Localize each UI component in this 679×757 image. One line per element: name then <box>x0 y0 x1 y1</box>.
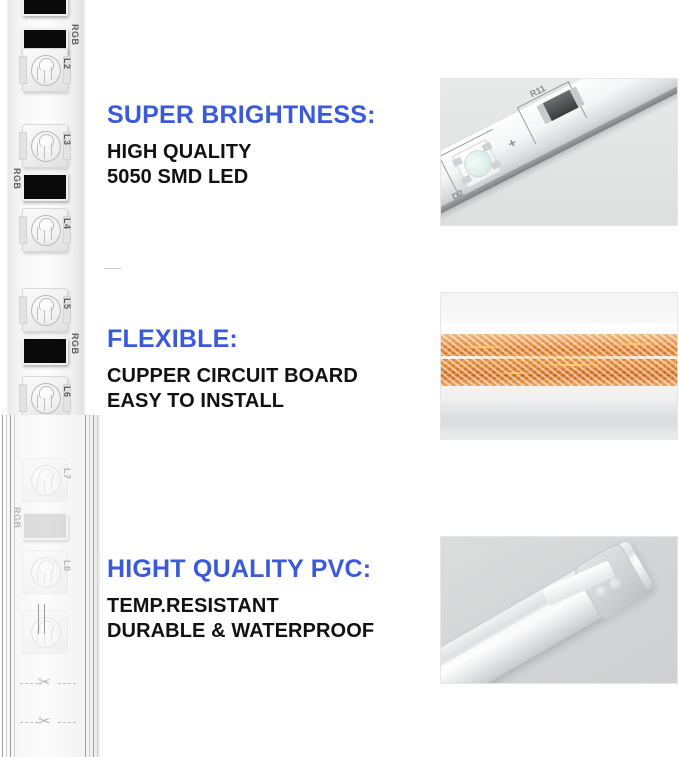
feature-body-line: 5050 SMD LED <box>107 165 437 191</box>
feature-block-hight-quality-pvc: HIGHT QUALITY PVC: TEMP.RESISTANT DURABL… <box>107 556 437 645</box>
led-pad-left <box>19 296 27 324</box>
led-dome-icon <box>31 55 61 86</box>
feature-body-line: DURABLE & WATERPROOF <box>107 619 437 645</box>
led-label: L8 <box>62 560 72 572</box>
led-label: L3 <box>62 134 72 146</box>
feature-body-line: CUPPER CIRCUIT BOARD <box>107 364 437 390</box>
sleeve-edge-line <box>97 415 98 757</box>
smd-led-chip <box>22 458 68 502</box>
led-dome-icon <box>31 557 61 588</box>
sleeve-edge-line <box>85 415 86 757</box>
led-pad-left <box>19 384 27 412</box>
led-strip-illustration: RGB L2 L3 RGB L4 L5 RGB L6 <box>0 0 104 757</box>
tube-highlight <box>441 323 677 333</box>
sleeve-edge-line <box>6 415 7 757</box>
smd-led-chip <box>22 376 68 420</box>
rgb-driver-chip <box>22 173 68 201</box>
feature-heading: FLEXIBLE: <box>107 326 437 354</box>
section-divider <box>104 268 121 269</box>
feature-heading: SUPER BRIGHTNESS: <box>107 102 437 130</box>
scissors-icon: ✂ <box>38 675 51 690</box>
feature-block-super-brightness: SUPER BRIGHTNESS: HIGH QUALITY 5050 SMD … <box>107 102 437 191</box>
led-label: L2 <box>62 58 72 70</box>
photo-led-pcb-closeup: R11 + D2 <box>440 78 678 226</box>
feature-heading: HIGHT QUALITY PVC: <box>107 556 437 584</box>
smd-led-chip <box>22 288 68 332</box>
sleeve-edge-line <box>2 415 3 757</box>
sleeve-edge-line <box>14 415 15 757</box>
smd-led-chip <box>22 48 68 92</box>
sleeve-edge-line <box>93 415 94 757</box>
led-dome-icon <box>31 465 61 496</box>
led-pad-left <box>19 56 27 84</box>
rgb-label: RGB <box>12 168 22 190</box>
sleeve-edge-line <box>10 415 11 757</box>
rgb-driver-chip <box>22 337 68 365</box>
cut-line-dash <box>20 722 38 723</box>
copper-strand <box>455 346 511 348</box>
led-dome-icon <box>31 383 61 414</box>
photo-clear-pvc-sleeve <box>440 536 678 684</box>
cut-line-dash <box>58 722 76 723</box>
led-label: L7 <box>62 468 72 480</box>
rgb-driver-chip <box>22 0 68 16</box>
rgb-label: RGB <box>70 333 80 355</box>
feature-block-flexible: FLEXIBLE: CUPPER CIRCUIT BOARD EASY TO I… <box>107 326 437 415</box>
led-pad-left <box>19 216 27 244</box>
smd-led-chip <box>22 550 68 594</box>
led-label: L5 <box>62 298 72 310</box>
copper-strand <box>493 372 537 374</box>
scissors-icon: ✂ <box>38 714 51 729</box>
sleeve-edge-line <box>89 415 90 757</box>
led-dome-icon <box>31 215 61 246</box>
led-label: L6 <box>62 386 72 398</box>
rgb-driver-chip <box>22 512 68 540</box>
cut-line-dash <box>20 683 38 684</box>
copper-braid-band <box>441 334 677 386</box>
led-label: L4 <box>62 218 72 230</box>
silkscreen-plus: + <box>505 135 519 152</box>
led-dome-icon <box>31 131 61 162</box>
smd-led-chip <box>22 124 68 168</box>
rgb-label: RGB <box>12 507 22 529</box>
feature-body-line: TEMP.RESISTANT <box>107 594 437 620</box>
cut-line-dash <box>58 683 76 684</box>
pvc-sleeve-body <box>440 540 655 684</box>
feature-body-line: HIGH QUALITY <box>107 140 437 166</box>
rgb-label: RGB <box>70 24 80 46</box>
smd-led-chip <box>22 208 68 252</box>
photo-copper-braid-circuit <box>440 292 678 440</box>
copper-strand <box>537 364 607 366</box>
led-dome-icon <box>31 295 61 326</box>
pcb-strip-body: R11 + D2 <box>440 78 678 221</box>
led-pad-left <box>19 132 27 160</box>
feature-body-line: EASY TO INSTALL <box>107 389 437 415</box>
feature-body: CUPPER CIRCUIT BOARD EASY TO INSTALL <box>107 364 437 415</box>
feature-body: HIGH QUALITY 5050 SMD LED <box>107 140 437 191</box>
feature-body: TEMP.RESISTANT DURABLE & WATERPROOF <box>107 594 437 645</box>
copper-strand <box>609 343 661 345</box>
resistor-lead-marks <box>38 604 52 634</box>
